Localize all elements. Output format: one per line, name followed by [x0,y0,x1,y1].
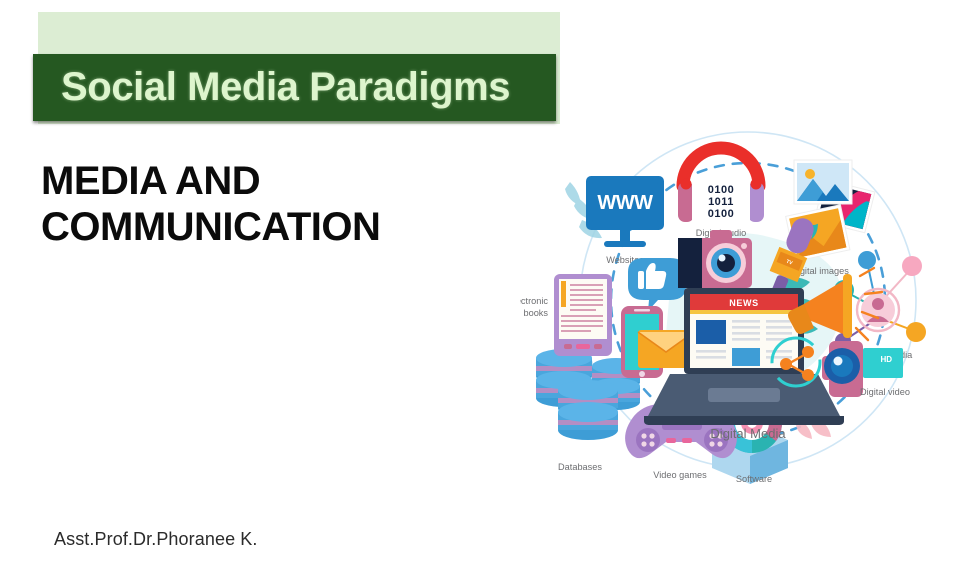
node-label-electronic-books-line-1: Electronic [520,296,548,306]
node-label-digital-video: Digital video [860,387,910,397]
banner: Social Media Paradigms [38,12,560,124]
node-label-electronic-books-line-2: books [523,308,548,318]
banner-title: Social Media Paradigms [33,65,510,110]
node-label-video-games: Video games [653,470,707,480]
page-title: MEDIA AND COMMUNICATION [41,158,521,250]
node-electronic-books[interactable]: Electronic books [520,274,612,356]
digital-media-infographic: WWW Websites 0100 1011 0100 Digital audi… [520,108,975,498]
slide-canvas: Social Media Paradigms MEDIA AND COMMUNI… [0,0,975,569]
binary-line-2: 1011 [708,196,734,208]
news-badge-label: NEWS [729,298,758,308]
node-label-software: Software [736,474,772,484]
binary-line-3: 0100 [708,208,734,220]
binary-line-1: 0100 [708,184,734,196]
page-title-line-1: MEDIA AND [41,159,260,203]
author-byline: Asst.Prof.Dr.Phoranee K. [54,529,258,550]
node-websites[interactable]: WWW Websites [586,176,664,265]
camera-icon [678,230,752,288]
node-digital-video[interactable]: HD Digital video [822,341,910,397]
node-label-databases: Databases [558,462,602,472]
page-title-line-2: COMMUNICATION [41,204,521,250]
photo-landscape-blue [794,160,852,204]
center-label: Digital Media [710,426,786,441]
hd-badge-label: HD [880,355,892,364]
banner-dark-block: Social Media Paradigms [33,54,556,121]
www-badge-label: WWW [597,192,653,214]
node-digital-audio[interactable]: 0100 1011 0100 Digital audio [678,148,764,238]
